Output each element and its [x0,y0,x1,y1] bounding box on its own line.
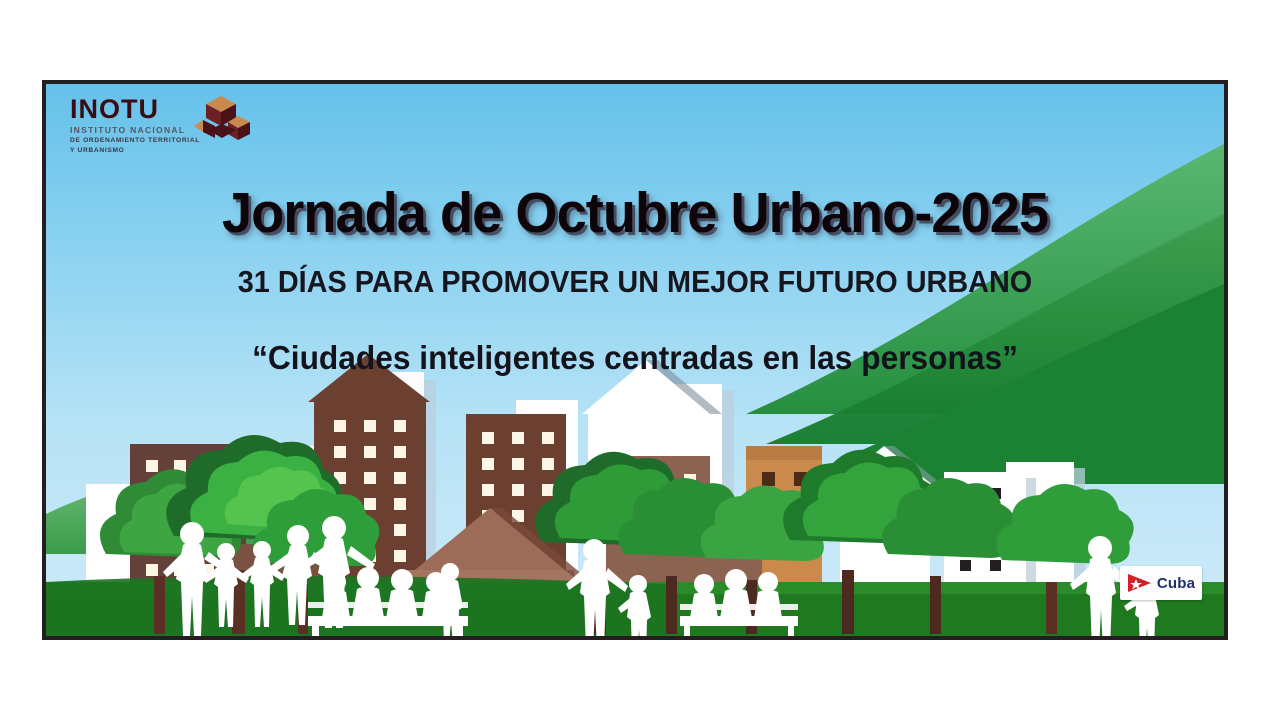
cuba-flag-triangle-star-icon [1127,572,1153,594]
cuba-badge: Cuba [1120,566,1202,600]
poster-canvas: INOTU INSTITUTO NACIONAL DE ORDENAMIENTO… [0,0,1270,715]
inotu-logo: INOTU INSTITUTO NACIONAL DE ORDENAMIENTO… [70,96,250,166]
poster-frame: INOTU INSTITUTO NACIONAL DE ORDENAMIENTO… [42,80,1228,640]
logo-subtitle-line3: Y URBANISMO [70,147,250,156]
cuba-badge-label: Cuba [1157,575,1195,592]
poster-quote: “Ciudades inteligentes centradas en las … [70,339,1201,377]
poster-subtitle: 31 DÍAS PARA PROMOVER UN MEJOR FUTURO UR… [87,264,1183,300]
isometric-cube-blocks-icon [192,94,250,144]
poster-title: Jornada de Octubre Urbano-2025 [75,180,1194,246]
